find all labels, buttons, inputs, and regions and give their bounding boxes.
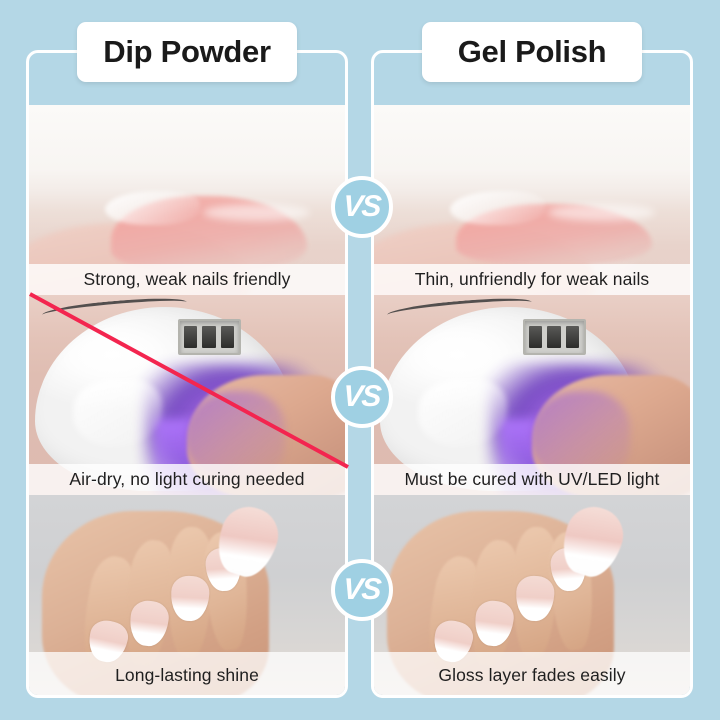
timer-digit-2 <box>202 326 215 347</box>
timer-digit-2 <box>547 326 560 347</box>
photo-glare <box>548 204 655 221</box>
title-text-gel-polish: Gel Polish <box>458 34 607 70</box>
vs-badge-row3: VS <box>331 559 393 621</box>
vs-badge-row2: VS <box>331 366 393 428</box>
comparison-infographic: Strong, weak nails friendly <box>0 0 720 720</box>
title-badge-dip-powder: Dip Powder <box>77 22 297 82</box>
cell-dip-powder-row1: Strong, weak nails friendly <box>29 105 345 295</box>
cell-gel-polish-row3: Gloss layer fades easily <box>374 495 690 695</box>
title-badge-gel-polish: Gel Polish <box>422 22 642 82</box>
vs-label: VS <box>342 575 381 605</box>
caption-dip-powder-row1: Strong, weak nails friendly <box>29 264 345 295</box>
timer-digit-3 <box>221 326 234 347</box>
cell-dip-powder-row2: Air-dry, no light curing needed <box>29 295 345 495</box>
vs-label: VS <box>342 192 381 222</box>
caption-dip-powder-row2: Air-dry, no light curing needed <box>29 464 345 495</box>
nail-edge-highlight <box>105 191 200 225</box>
column-gel-polish-images: Thin, unfriendly for weak nails <box>374 105 690 695</box>
cell-gel-polish-row1: Thin, unfriendly for weak nails <box>374 105 690 295</box>
title-text-dip-powder: Dip Powder <box>103 34 271 70</box>
caption-gel-polish-row2: Must be cured with UV/LED light <box>374 464 690 495</box>
nail-edge-highlight <box>450 191 545 225</box>
cell-dip-powder-row3: Long-lasting shine <box>29 495 345 695</box>
column-gel-polish: Thin, unfriendly for weak nails <box>371 50 693 698</box>
timer-digit-1 <box>529 326 542 347</box>
caption-gel-polish-row1: Thin, unfriendly for weak nails <box>374 264 690 295</box>
vs-label: VS <box>342 382 381 412</box>
photo-glare <box>203 204 310 221</box>
vs-badge-row1: VS <box>331 176 393 238</box>
column-dip-powder-images: Strong, weak nails friendly <box>29 105 345 695</box>
lamp-timer-display <box>178 319 241 355</box>
caption-gel-polish-row3: Gloss layer fades easily <box>374 652 690 695</box>
timer-digit-3 <box>566 326 579 347</box>
lamp-timer-display <box>523 319 586 355</box>
timer-digit-1 <box>184 326 197 347</box>
column-dip-powder: Strong, weak nails friendly <box>26 50 348 698</box>
caption-dip-powder-row3: Long-lasting shine <box>29 652 345 695</box>
cell-gel-polish-row2: Must be cured with UV/LED light <box>374 295 690 495</box>
